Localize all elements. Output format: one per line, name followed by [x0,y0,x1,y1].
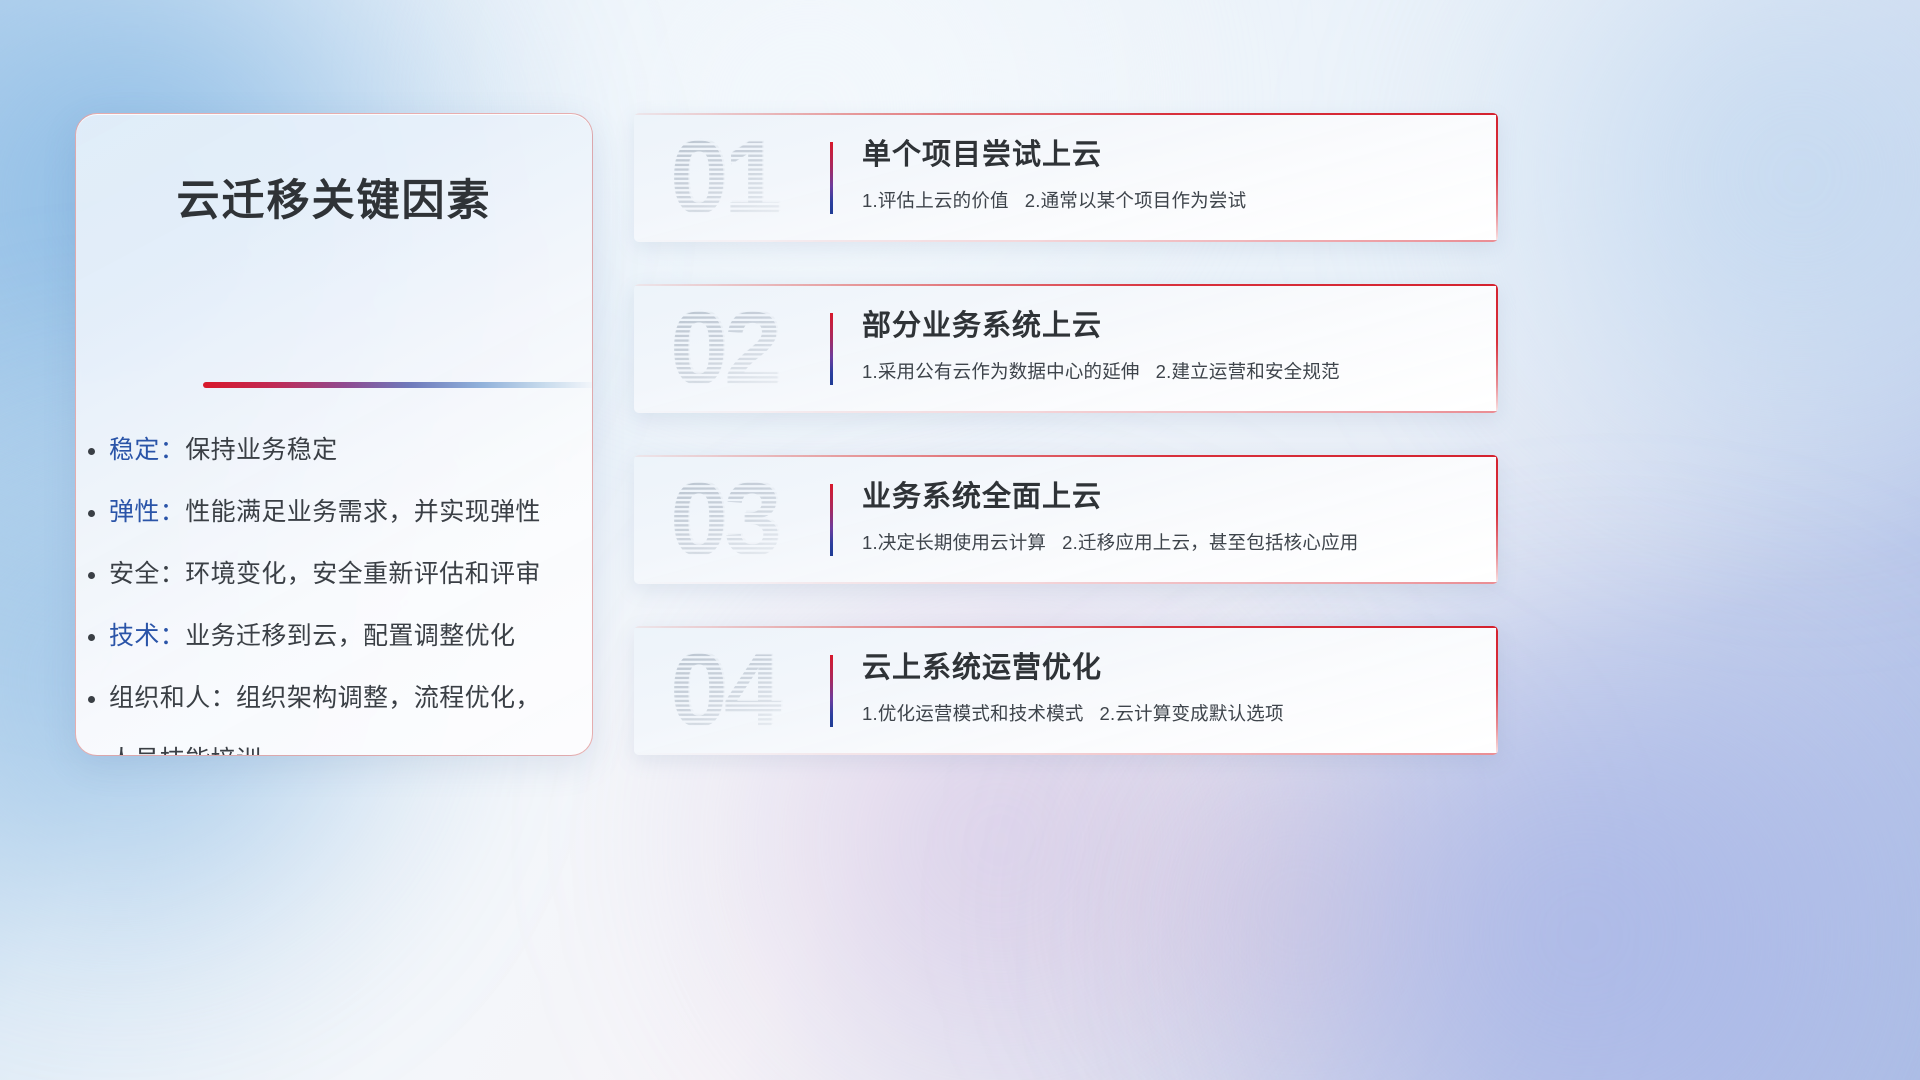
card-subtitle: 1.决定长期使用云计算2.迁移应用上云，甚至包括核心应用 [862,530,1472,556]
card-divider [830,484,833,556]
stage-card[interactable]: 0303业务系统全面上云1.决定长期使用云计算2.迁移应用上云，甚至包括核心应用 [634,455,1498,584]
card-body: 部分业务系统上云1.采用公有云作为数据中心的延伸2.建立运营和安全规范 [862,306,1472,385]
card-point: 2.建立运营和安全规范 [1156,361,1340,382]
card-divider [830,142,833,214]
card-point: 1.采用公有云作为数据中心的延伸 [862,361,1140,382]
key-factor-item: 技术：业务迁移到云，配置调整优化 [109,605,570,667]
card-title: 云上系统运营优化 [862,648,1472,688]
stage-number: 0202 [668,298,818,398]
card-bottom-rule [634,582,1498,584]
card-bottom-rule [634,240,1498,242]
card-title: 部分业务系统上云 [862,306,1472,346]
key-factor-label: 稳定： [109,436,185,464]
card-point: 2.云计算变成默认选项 [1100,703,1284,724]
stage-card[interactable]: 0202部分业务系统上云1.采用公有云作为数据中心的延伸2.建立运营和安全规范 [634,284,1498,413]
key-factor-item: 组织和人：组织架构调整，流程优化， [109,667,570,729]
slide-stage: 云迁移关键因素 稳定：保持业务稳定弹性：性能满足业务需求，并实现弹性安全：环境变… [0,0,1920,1080]
stage-number: 0101 [668,127,818,227]
card-subtitle: 1.评估上云的价值2.通常以某个项目作为尝试 [862,188,1472,214]
key-factor-text: 保持业务稳定 [185,436,337,464]
svg-text:04: 04 [672,640,784,740]
card-body: 业务系统全面上云1.决定长期使用云计算2.迁移应用上云，甚至包括核心应用 [862,477,1472,556]
card-bottom-rule [634,753,1498,755]
card-point: 1.决定长期使用云计算 [862,532,1046,553]
card-body: 单个项目尝试上云1.评估上云的价值2.通常以某个项目作为尝试 [862,135,1472,214]
card-bottom-rule [634,411,1498,413]
stage-cards: 0101单个项目尝试上云1.评估上云的价值2.通常以某个项目作为尝试0202部分… [634,113,1498,797]
card-subtitle: 1.优化运营模式和技术模式2.云计算变成默认选项 [862,701,1472,727]
card-point: 1.优化运营模式和技术模式 [862,703,1084,724]
key-factor-item: 弹性：性能满足业务需求，并实现弹性 [109,481,570,543]
key-factor-text: 性能满足业务需求，并实现弹性 [185,498,541,526]
key-factor-item: 人员技能培训 [109,729,570,756]
card-subtitle: 1.采用公有云作为数据中心的延伸2.建立运营和安全规范 [862,359,1472,385]
card-body: 云上系统运营优化1.优化运营模式和技术模式2.云计算变成默认选项 [862,648,1472,727]
card-point: 2.通常以某个项目作为尝试 [1025,190,1247,211]
title-underline [203,382,593,388]
stage-card[interactable]: 0101单个项目尝试上云1.评估上云的价值2.通常以某个项目作为尝试 [634,113,1498,242]
key-factors-panel: 云迁移关键因素 稳定：保持业务稳定弹性：性能满足业务需求，并实现弹性安全：环境变… [75,113,593,756]
key-factor-label: 组织和人： [109,684,236,712]
card-point: 1.评估上云的价值 [862,190,1009,211]
card-divider [830,313,833,385]
svg-text:01: 01 [672,127,781,227]
key-factor-label: 技术： [109,622,185,650]
key-factor-text: 人员技能培训 [109,746,261,756]
key-factor-text: 业务迁移到云，配置调整优化 [185,622,515,650]
svg-text:03: 03 [672,469,781,569]
key-factor-item: 安全：环境变化，安全重新评估和评审 [109,543,570,605]
key-factor-label: 安全： [109,560,185,588]
card-title: 业务系统全面上云 [862,477,1472,517]
card-title: 单个项目尝试上云 [862,135,1472,175]
stage-card[interactable]: 0404云上系统运营优化1.优化运营模式和技术模式2.云计算变成默认选项 [634,626,1498,755]
card-divider [830,655,833,727]
key-factor-label: 弹性： [109,498,185,526]
key-factors-list: 稳定：保持业务稳定弹性：性能满足业务需求，并实现弹性安全：环境变化，安全重新评估… [109,419,570,756]
panel-title: 云迁移关键因素 [76,166,592,228]
key-factor-text: 环境变化，安全重新评估和评审 [185,560,541,588]
key-factor-text: 组织架构调整，流程优化， [236,684,541,712]
stage-number: 0303 [668,469,818,569]
key-factor-item: 稳定：保持业务稳定 [109,419,570,481]
stage-number: 0404 [668,640,818,740]
card-point: 2.迁移应用上云，甚至包括核心应用 [1062,532,1358,553]
svg-text:02: 02 [672,298,780,398]
